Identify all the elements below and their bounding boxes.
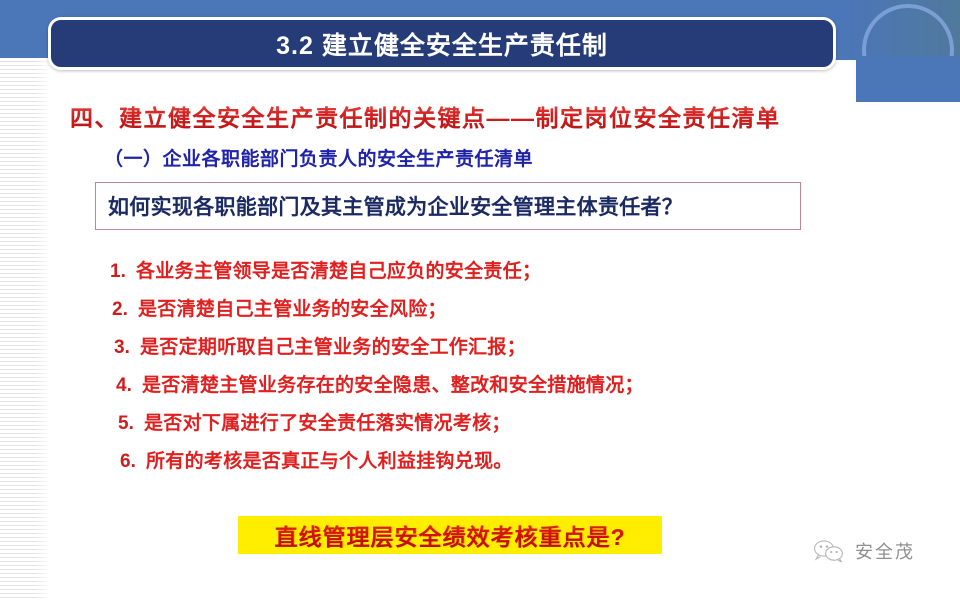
question-text: 如何实现各职能部门及其主管成为企业安全管理主体责任者？ <box>108 191 683 221</box>
list-item-number: 6. <box>120 451 146 473</box>
list-item: 4. 是否清楚主管业务存在的安全隐患、整改和安全措施情况； <box>116 370 830 408</box>
list-item-label: 是否对下属进行了安全责任落实情况考核； <box>144 408 511 435</box>
highlight-callout: 直线管理层安全绩效考核重点是? <box>238 516 662 554</box>
list-item-number: 1. <box>110 261 136 283</box>
section-heading: 四、建立健全安全生产责任制的关键点——制定岗位安全责任清单 <box>70 99 781 133</box>
list-item-label: 各业务主管领导是否清楚自己应负的安全责任； <box>136 256 541 283</box>
list-item-number: 5. <box>118 413 144 435</box>
list-item: 1. 各业务主管领导是否清楚自己应负的安全责任； <box>110 256 830 294</box>
list-item: 2. 是否清楚自己主管业务的安全风险； <box>112 294 830 332</box>
list-item: 3. 是否定期听取自己主管业务的安全工作汇报； <box>114 332 830 370</box>
checklist: 1. 各业务主管领导是否清楚自己应负的安全责任； 2. 是否清楚自己主管业务的安… <box>110 256 830 484</box>
list-item-label: 是否清楚主管业务存在的安全隐患、整改和安全措施情况； <box>142 370 644 397</box>
list-item-label: 所有的考核是否真正与个人利益挂钩兑现。 <box>146 446 513 473</box>
list-item-number: 3. <box>114 337 140 359</box>
list-item-number: 2. <box>112 299 138 321</box>
callout-text: 直线管理层安全绩效考核重点是? <box>274 518 625 552</box>
section-subheading: （一）企业各职能部门负责人的安全生产责任清单 <box>104 144 533 171</box>
watermark: 安全茂 <box>812 538 915 564</box>
list-item: 5. 是否对下属进行了安全责任落实情况考核； <box>118 408 830 446</box>
list-item-label: 是否清楚自己主管业务的安全风险； <box>138 294 447 321</box>
slide-title-bar: 3.2 建立健全安全生产责任制 <box>48 17 836 70</box>
list-item-label: 是否定期听取自己主管业务的安全工作汇报； <box>140 332 526 359</box>
list-item-number: 4. <box>116 375 142 397</box>
watermark-label: 安全茂 <box>855 538 915 564</box>
wechat-icon <box>812 538 846 564</box>
arc-decoration-mask <box>856 56 960 102</box>
slide-title: 3.2 建立健全安全生产责任制 <box>276 26 608 62</box>
left-stripe-fade <box>0 58 49 601</box>
presentation-slide: 3.2 建立健全安全生产责任制 四、建立健全安全生产责任制的关键点——制定岗位安… <box>0 0 960 601</box>
list-item: 6. 所有的考核是否真正与个人利益挂钩兑现。 <box>120 446 830 484</box>
question-box: 如何实现各职能部门及其主管成为企业安全管理主体责任者？ <box>95 182 801 230</box>
